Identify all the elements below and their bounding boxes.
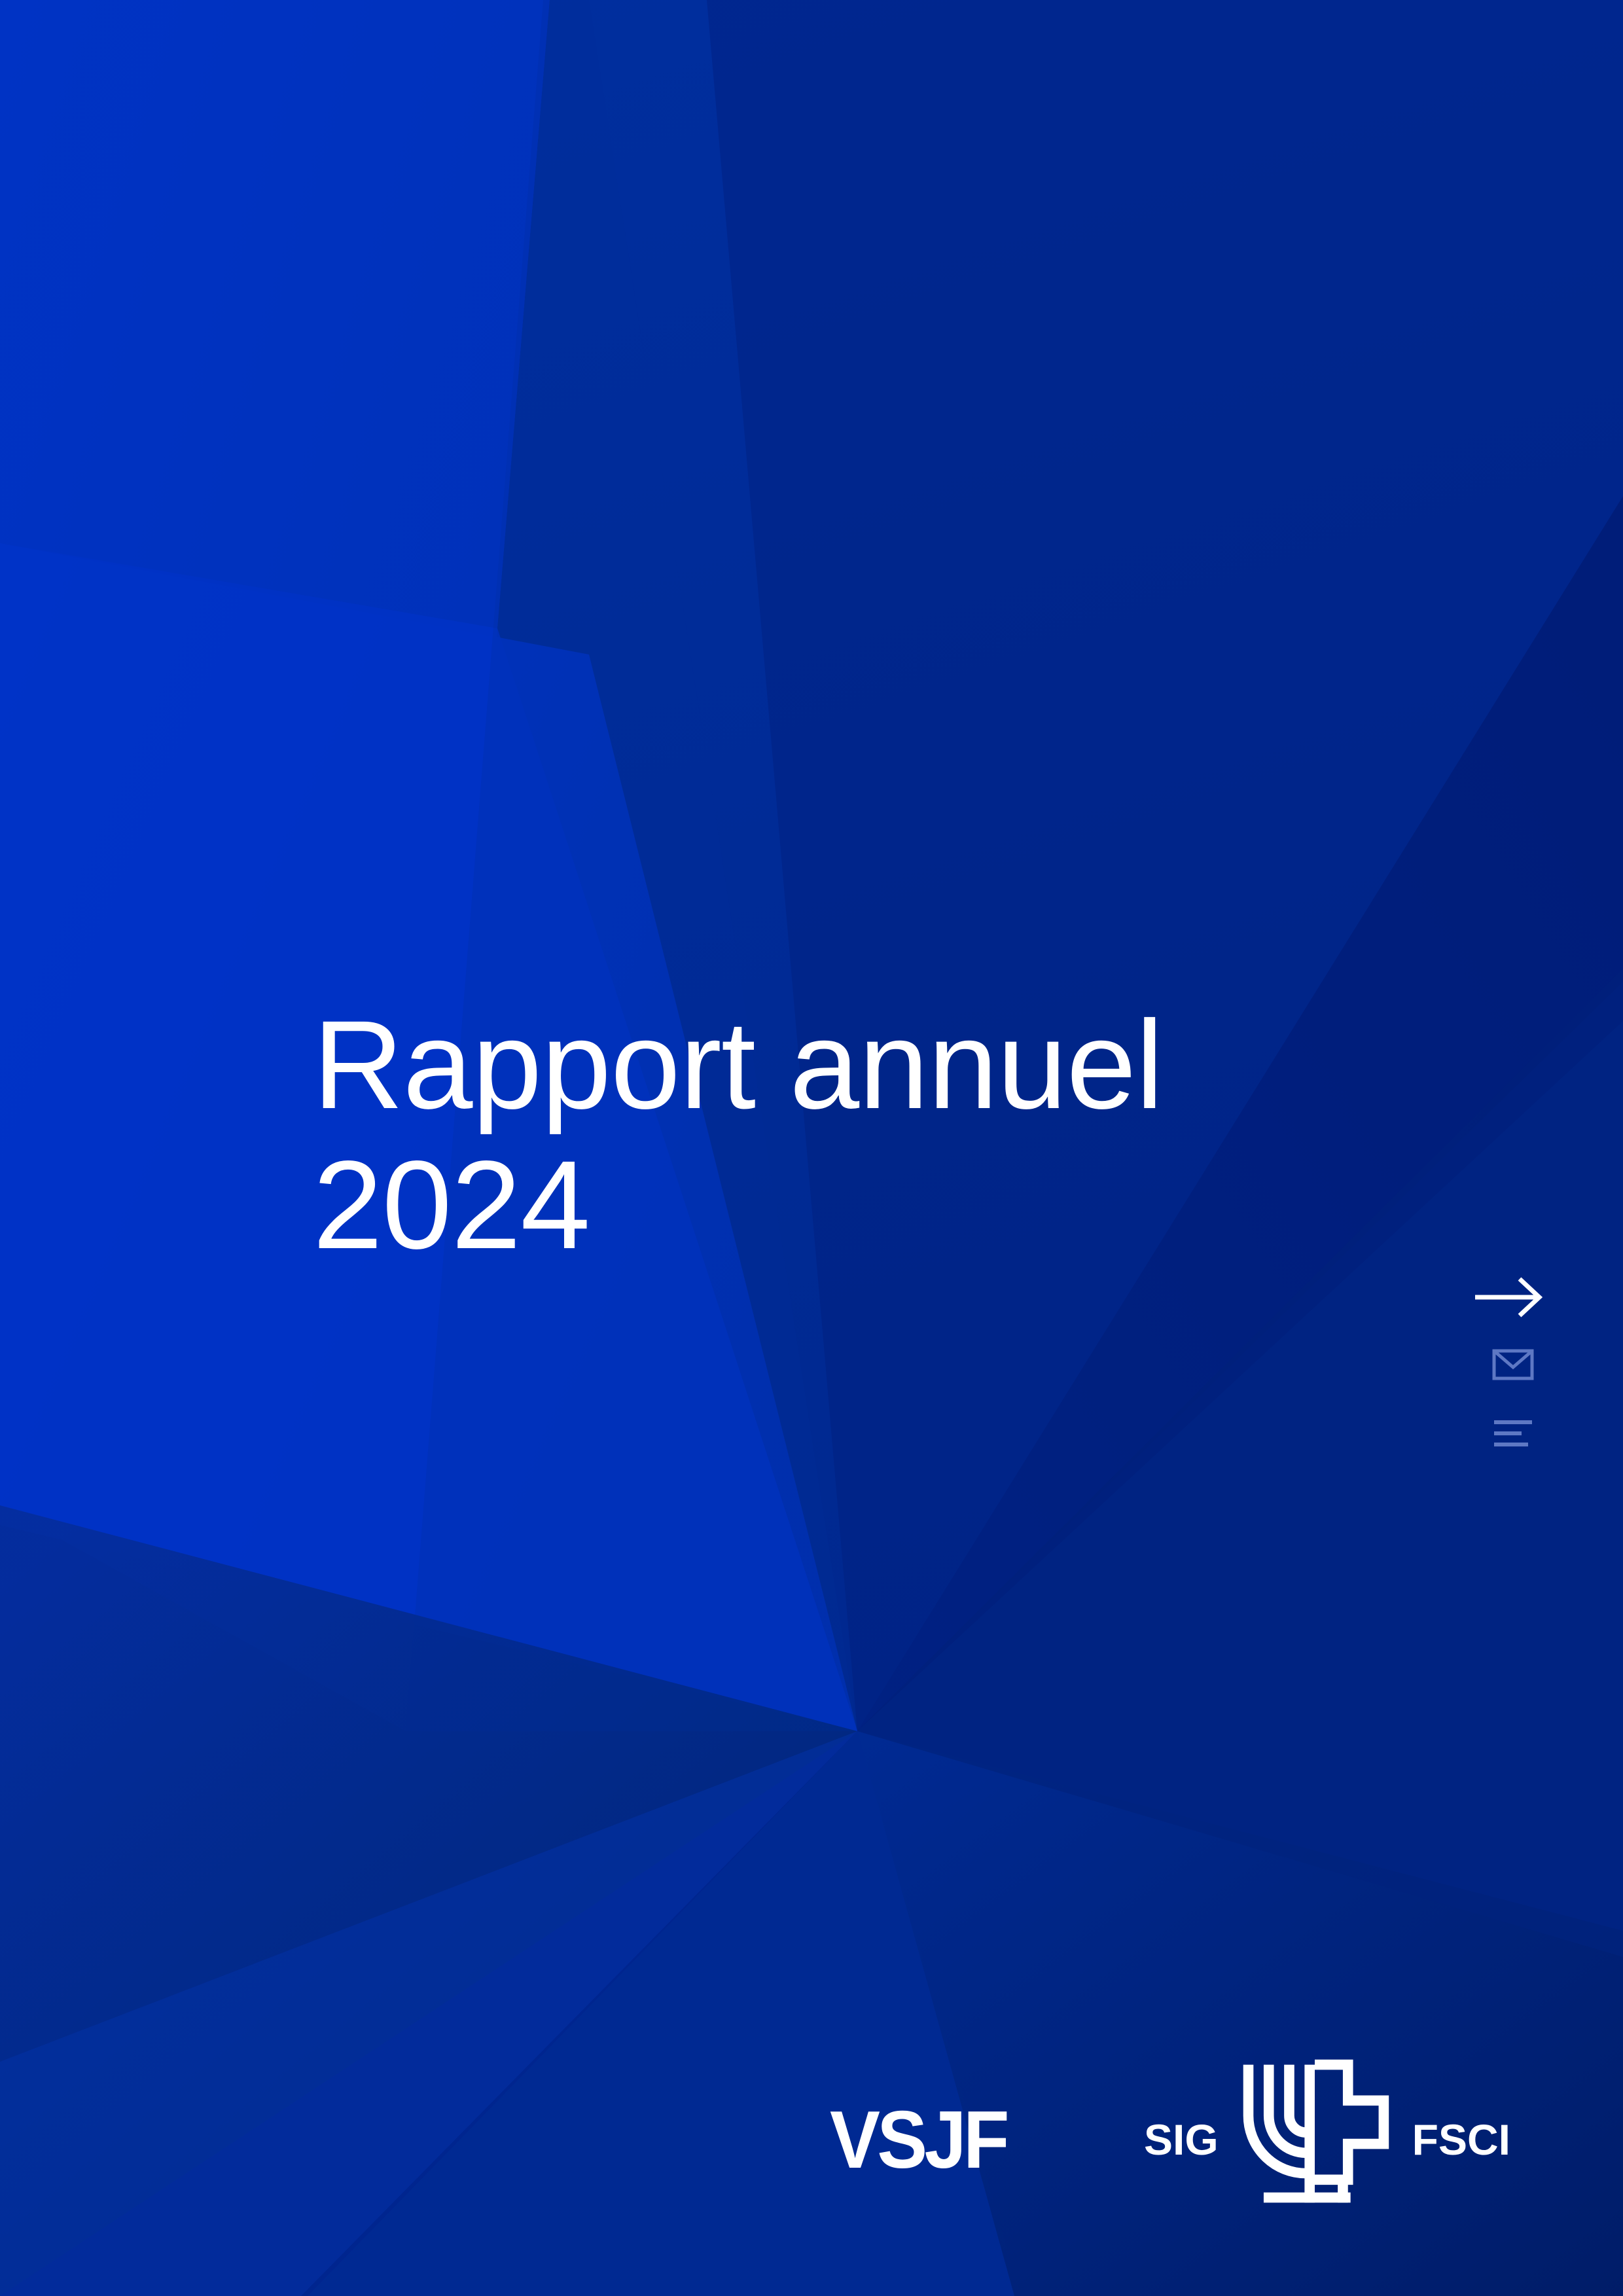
mail-icon-glyph	[1472, 1342, 1544, 1389]
icon-rail	[1472, 1263, 1577, 1467]
mail-icon[interactable]	[1472, 1331, 1544, 1399]
vsjf-logo: VSJF	[830, 2100, 1020, 2181]
page-title-line-1: Rapport annuel	[313, 995, 1163, 1135]
arrow-right-icon-glyph	[1472, 1276, 1544, 1318]
page-title-line-2: 2024	[313, 1135, 1163, 1275]
menorah-swiss-cross-mark	[1236, 2042, 1395, 2225]
text-lines-icon-glyph	[1472, 1414, 1544, 1453]
sig-abbreviation: SIG	[1144, 2118, 1219, 2225]
arrow-right-icon[interactable]	[1472, 1263, 1544, 1331]
text-lines-icon[interactable]	[1472, 1399, 1544, 1467]
vsjf-wordmark: VSJF	[830, 2100, 1007, 2181]
report-cover-page: Rapport annuel 2024 VSJF	[0, 0, 1623, 2296]
cover-title-block: Rapport annuel 2024	[313, 995, 1163, 1275]
sig-fsci-logo: SIG FSCI	[1144, 2036, 1510, 2225]
fsci-abbreviation: FSCI	[1412, 2118, 1510, 2225]
